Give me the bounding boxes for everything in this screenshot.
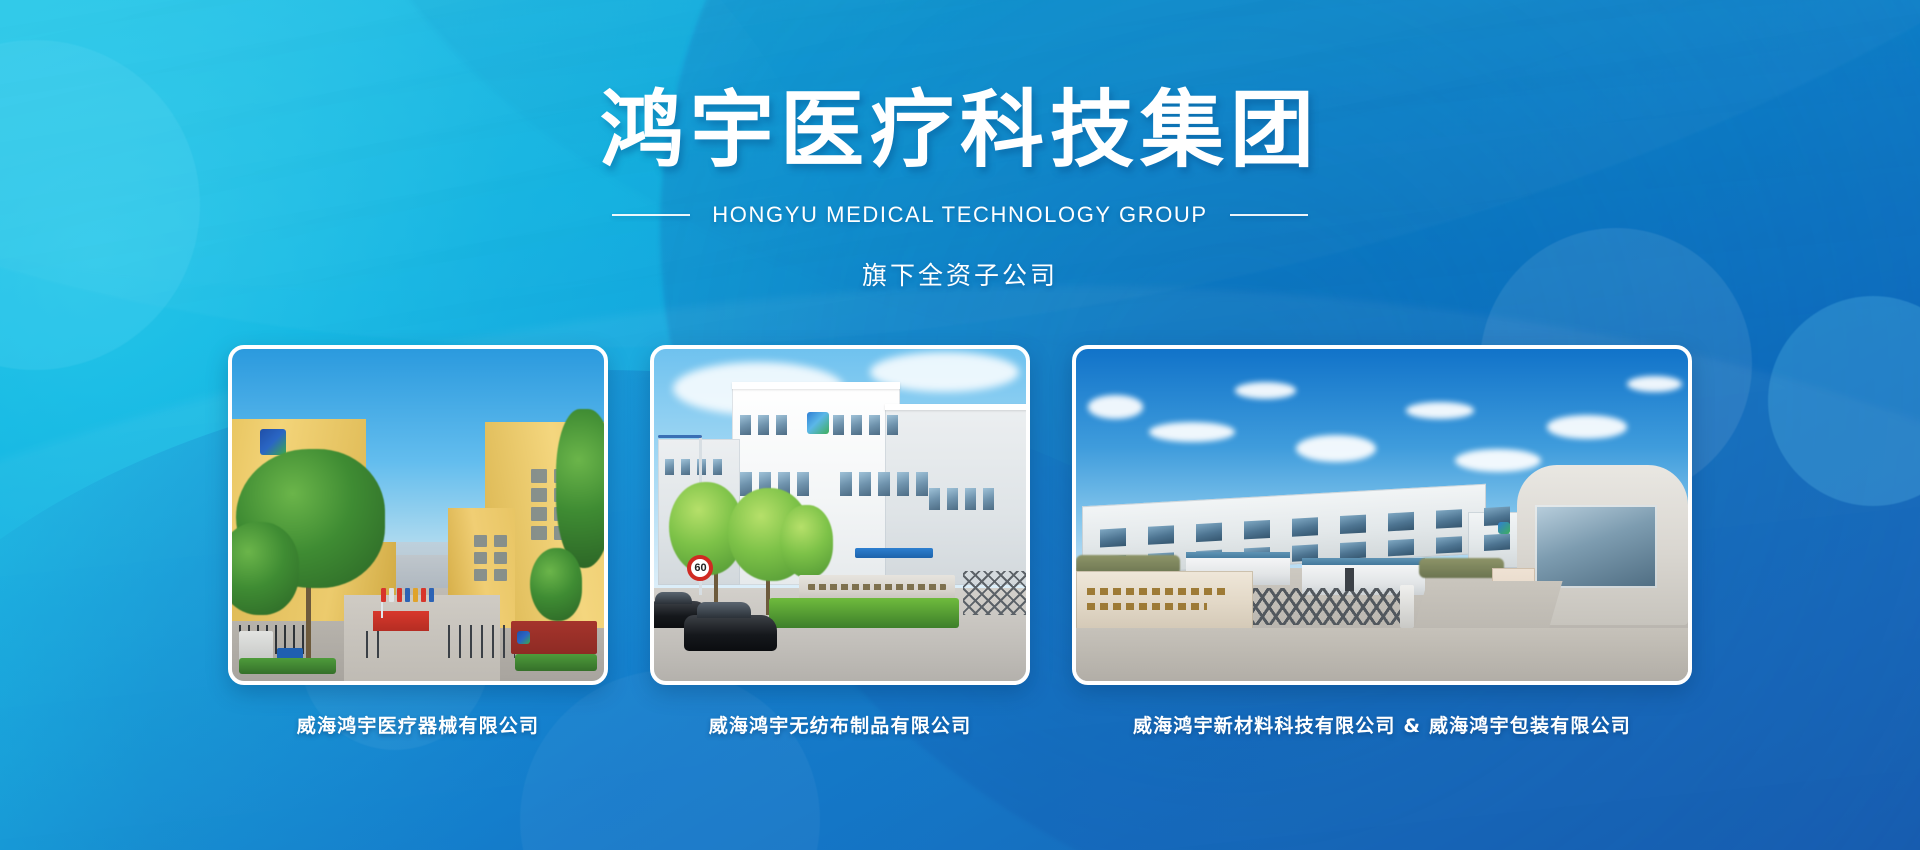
page-title: 鸿宇医疗科技集团 bbox=[0, 88, 1920, 172]
window-row-top-right bbox=[833, 415, 898, 435]
company-logo-icon bbox=[807, 412, 829, 434]
flag bbox=[381, 588, 386, 602]
window bbox=[797, 472, 809, 496]
rule-left-decoration bbox=[612, 214, 690, 216]
cloud bbox=[1455, 449, 1541, 472]
factory-logo-icon bbox=[1498, 522, 1510, 534]
tree-canopy-right bbox=[556, 409, 604, 568]
foreground-pavement bbox=[1076, 628, 1688, 681]
tree-canopy bbox=[780, 505, 832, 578]
window bbox=[531, 507, 547, 521]
cloud bbox=[1235, 382, 1296, 399]
subtitle-english-row: HONGYU MEDICAL TECHNOLOGY GROUP bbox=[0, 202, 1920, 228]
window-grid-mid bbox=[474, 535, 507, 581]
window-row-right-wing bbox=[929, 488, 994, 510]
entrance-canopy bbox=[855, 548, 933, 558]
window bbox=[681, 459, 690, 475]
card-caption: 威海鸿宇新材料科技有限公司 & 威海鸿宇包装有限公司 bbox=[1133, 711, 1631, 738]
window-row-left-wing bbox=[665, 459, 722, 475]
subtitle-chinese: 旗下全资子公司 bbox=[0, 256, 1920, 292]
flag bbox=[421, 588, 426, 602]
card-caption: 威海鸿宇无纺布制品有限公司 bbox=[709, 711, 972, 738]
window bbox=[474, 535, 487, 547]
window bbox=[965, 488, 976, 510]
window bbox=[474, 552, 487, 564]
company-group-banner: 鸿宇医疗科技集团 HONGYU MEDICAL TECHNOLOGY GROUP… bbox=[0, 0, 1920, 850]
window bbox=[840, 472, 852, 496]
cloud bbox=[1088, 395, 1143, 418]
wall-text-line-2 bbox=[1087, 603, 1208, 610]
window bbox=[740, 415, 751, 435]
subsidiary-card-row: 威海鸿宇医疗器械有限公司 bbox=[0, 345, 1920, 738]
window bbox=[983, 488, 994, 510]
window bbox=[494, 535, 507, 547]
window bbox=[1340, 515, 1366, 534]
photo-white-office: 60 bbox=[654, 349, 1026, 681]
rule-right-decoration bbox=[1230, 214, 1308, 216]
card-caption: 威海鸿宇医疗器械有限公司 bbox=[297, 711, 539, 738]
wall-text bbox=[808, 584, 946, 590]
retractable-gate bbox=[963, 571, 1026, 614]
window bbox=[494, 569, 507, 581]
entry-gate-left bbox=[366, 631, 388, 658]
car bbox=[684, 615, 777, 652]
cloud bbox=[1627, 376, 1682, 393]
subsidiary-card[interactable]: 威海鸿宇新材料科技有限公司 & 威海鸿宇包装有限公司 bbox=[1072, 345, 1692, 738]
window bbox=[531, 526, 547, 540]
window bbox=[833, 415, 844, 435]
hedge bbox=[239, 658, 336, 675]
window bbox=[851, 415, 862, 435]
cloud bbox=[1406, 402, 1473, 419]
entry-gate-right bbox=[448, 625, 515, 658]
gate-motor-box bbox=[1400, 585, 1413, 628]
retractable-gate bbox=[1253, 588, 1406, 625]
window bbox=[897, 472, 909, 496]
window bbox=[1292, 518, 1318, 537]
window-row-mid-right bbox=[840, 472, 928, 496]
window bbox=[1244, 520, 1270, 539]
subsidiary-card[interactable]: 威海鸿宇医疗器械有限公司 bbox=[228, 345, 608, 738]
cornice bbox=[885, 404, 1026, 410]
cloud bbox=[1296, 435, 1376, 462]
signboard-logo-icon bbox=[517, 631, 530, 644]
cloud bbox=[1149, 422, 1235, 442]
window bbox=[713, 459, 722, 475]
wall-text-line-1 bbox=[1087, 588, 1229, 595]
flag bbox=[405, 588, 410, 602]
window bbox=[1196, 523, 1222, 542]
window bbox=[859, 472, 871, 496]
photo-industrial-site bbox=[1076, 349, 1688, 681]
subtitle-english: HONGYU MEDICAL TECHNOLOGY GROUP bbox=[712, 202, 1207, 228]
window bbox=[776, 415, 787, 435]
hedge-right bbox=[515, 654, 597, 671]
window bbox=[1436, 510, 1462, 529]
window bbox=[1388, 512, 1414, 531]
window bbox=[494, 552, 507, 564]
flag bbox=[413, 588, 418, 602]
photo-frame bbox=[1072, 345, 1692, 685]
photo-frame: 60 bbox=[650, 345, 1030, 685]
tree-canopy-right-low bbox=[530, 548, 582, 621]
window bbox=[887, 415, 898, 435]
window bbox=[878, 472, 890, 496]
photo-frame bbox=[228, 345, 608, 685]
gate-post bbox=[1345, 568, 1354, 591]
photo-yellow-campus bbox=[232, 349, 604, 681]
window bbox=[916, 472, 928, 496]
guard-house-window bbox=[1535, 505, 1657, 588]
window bbox=[929, 488, 940, 510]
company-logo-icon bbox=[260, 429, 286, 455]
hedge bbox=[769, 598, 959, 628]
window bbox=[1436, 536, 1462, 553]
flag-row bbox=[381, 588, 434, 602]
window bbox=[1148, 526, 1174, 545]
window bbox=[1484, 533, 1510, 550]
window bbox=[758, 415, 769, 435]
window bbox=[1340, 541, 1366, 558]
cloud bbox=[1547, 415, 1627, 438]
tree-trunk bbox=[306, 581, 311, 667]
tree-canopy-small bbox=[232, 522, 299, 615]
window bbox=[531, 488, 547, 502]
street-lamp-arm bbox=[658, 435, 703, 438]
flag bbox=[429, 588, 434, 602]
banner-heading-group: 鸿宇医疗科技集团 HONGYU MEDICAL TECHNOLOGY GROUP… bbox=[0, 0, 1920, 292]
company-name-stone-wall bbox=[1076, 571, 1253, 631]
window bbox=[947, 488, 958, 510]
flag bbox=[389, 588, 394, 602]
subsidiary-card[interactable]: 60 威海鸿宇无纺布制品有限公司 bbox=[650, 345, 1030, 738]
window bbox=[474, 569, 487, 581]
window bbox=[665, 459, 674, 475]
window bbox=[869, 415, 880, 435]
window bbox=[1100, 528, 1126, 547]
window-row-top-left bbox=[740, 415, 787, 435]
window bbox=[531, 469, 547, 483]
window bbox=[1388, 539, 1414, 556]
flag bbox=[397, 588, 402, 602]
cornice bbox=[732, 382, 899, 389]
